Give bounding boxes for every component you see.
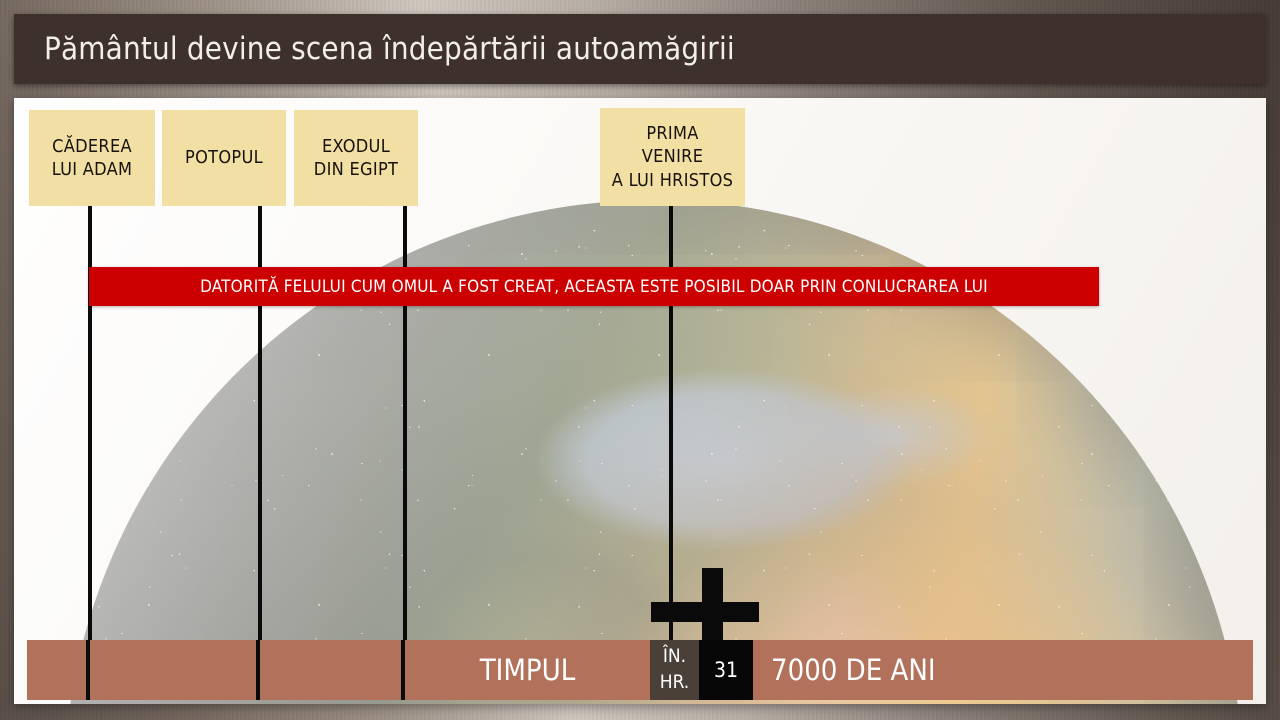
red-banner-text: DATORITĂ FELULUI CUM OMUL A FOST CREAT, … — [200, 277, 988, 297]
event-label-caderea-lui-adam[interactable]: CĂDEREA LUI ADAM — [29, 110, 155, 206]
timeline-era-label: ÎN. HR. — [660, 644, 689, 695]
event-label-text: CĂDEREA LUI ADAM — [52, 135, 133, 181]
event-label-text: EXODUL DIN EGIPT — [314, 135, 398, 181]
page-title: Pământul devine scena îndepărtării autoa… — [44, 31, 735, 67]
timeline-segment-pre-adam[interactable] — [27, 640, 88, 700]
event-label-potopul[interactable]: POTOPUL — [162, 110, 286, 206]
slide-stage: Pământul devine scena îndepărtării autoa… — [0, 0, 1280, 720]
title-bar: Pământul devine scena îndepărtării autoa… — [14, 14, 1266, 84]
timeline-time-label: TIMPUL — [480, 653, 576, 687]
event-label-prima-venire[interactable]: PRIMA VENIRE A LUI HRISTOS — [600, 108, 745, 206]
timeline-segment-7000-years[interactable]: 7000 DE ANI — [753, 640, 1253, 700]
timeline-year-marker[interactable]: 31 — [699, 640, 753, 700]
timeline-era-block[interactable]: ÎN. HR. — [650, 640, 699, 700]
event-label-text: POTOPUL — [185, 146, 263, 169]
timeline-segment-adam-to-potop[interactable] — [90, 640, 256, 700]
timeline-segment-potop-to-exod[interactable] — [260, 640, 401, 700]
timeline-bar: TIMPUL ÎN. HR. 31 7000 DE ANI — [27, 640, 1253, 700]
timeline-span-label: 7000 DE ANI — [771, 653, 936, 687]
timeline-segment-timpul[interactable]: TIMPUL — [405, 640, 650, 700]
cross-horizontal-beam — [651, 602, 759, 622]
event-label-exodul-din-egipt[interactable]: EXODUL DIN EGIPT — [294, 110, 418, 206]
content-panel: CĂDEREA LUI ADAM POTOPUL EXODUL DIN EGIP… — [14, 98, 1266, 704]
red-statement-banner[interactable]: DATORITĂ FELULUI CUM OMUL A FOST CREAT, … — [89, 267, 1099, 306]
timeline-year-value: 31 — [714, 658, 738, 682]
event-label-text: PRIMA VENIRE A LUI HRISTOS — [612, 122, 733, 191]
